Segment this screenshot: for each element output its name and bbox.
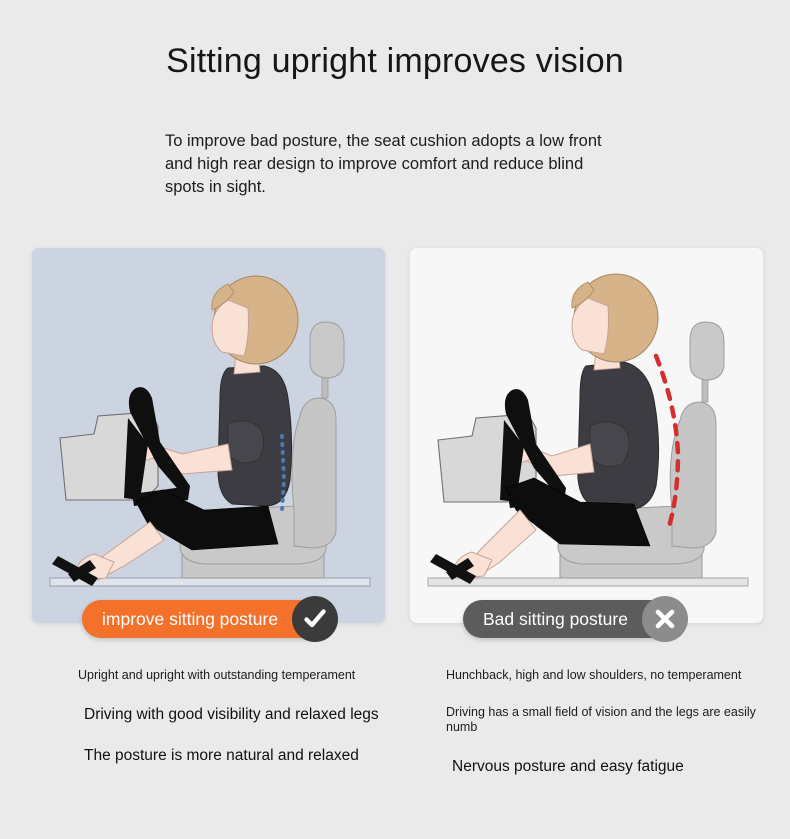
page-title: Sitting upright improves vision (0, 42, 790, 81)
page-subtitle: To improve bad posture, the seat cushion… (165, 130, 615, 199)
cross-icon (642, 596, 688, 642)
sleeve-shading (590, 422, 629, 467)
seat-back (670, 402, 716, 548)
good-posture-illustration (32, 248, 385, 623)
notes-good-posture: Upright and upright with outstanding tem… (78, 668, 408, 787)
illustration-panel-bad-posture (410, 248, 763, 623)
headrest (690, 322, 724, 380)
badge-improve-sitting-posture[interactable]: improve sitting posture (82, 600, 330, 638)
check-icon (292, 596, 338, 642)
note-large: The posture is more natural and relaxed (78, 746, 408, 765)
note-large: Nervous posture and easy fatigue (446, 757, 776, 776)
seat-back (292, 398, 336, 548)
illustration-panel-good-posture (32, 248, 385, 623)
headrest (310, 322, 344, 378)
sleeve-shading (228, 421, 264, 463)
notes-bad-posture: Hunchback, high and low shoulders, no te… (446, 668, 776, 798)
note-small: Upright and upright with outstanding tem… (78, 668, 408, 683)
badge-label: Bad sitting posture (483, 609, 628, 630)
note-small: Driving has a small field of vision and … (446, 705, 776, 735)
badge-bad-sitting-posture[interactable]: Bad sitting posture (463, 600, 680, 638)
bad-posture-illustration (410, 248, 763, 623)
note-large: Driving with good visibility and relaxed… (78, 705, 408, 724)
note-small: Hunchback, high and low shoulders, no te… (446, 668, 776, 683)
badge-label: improve sitting posture (102, 609, 278, 630)
